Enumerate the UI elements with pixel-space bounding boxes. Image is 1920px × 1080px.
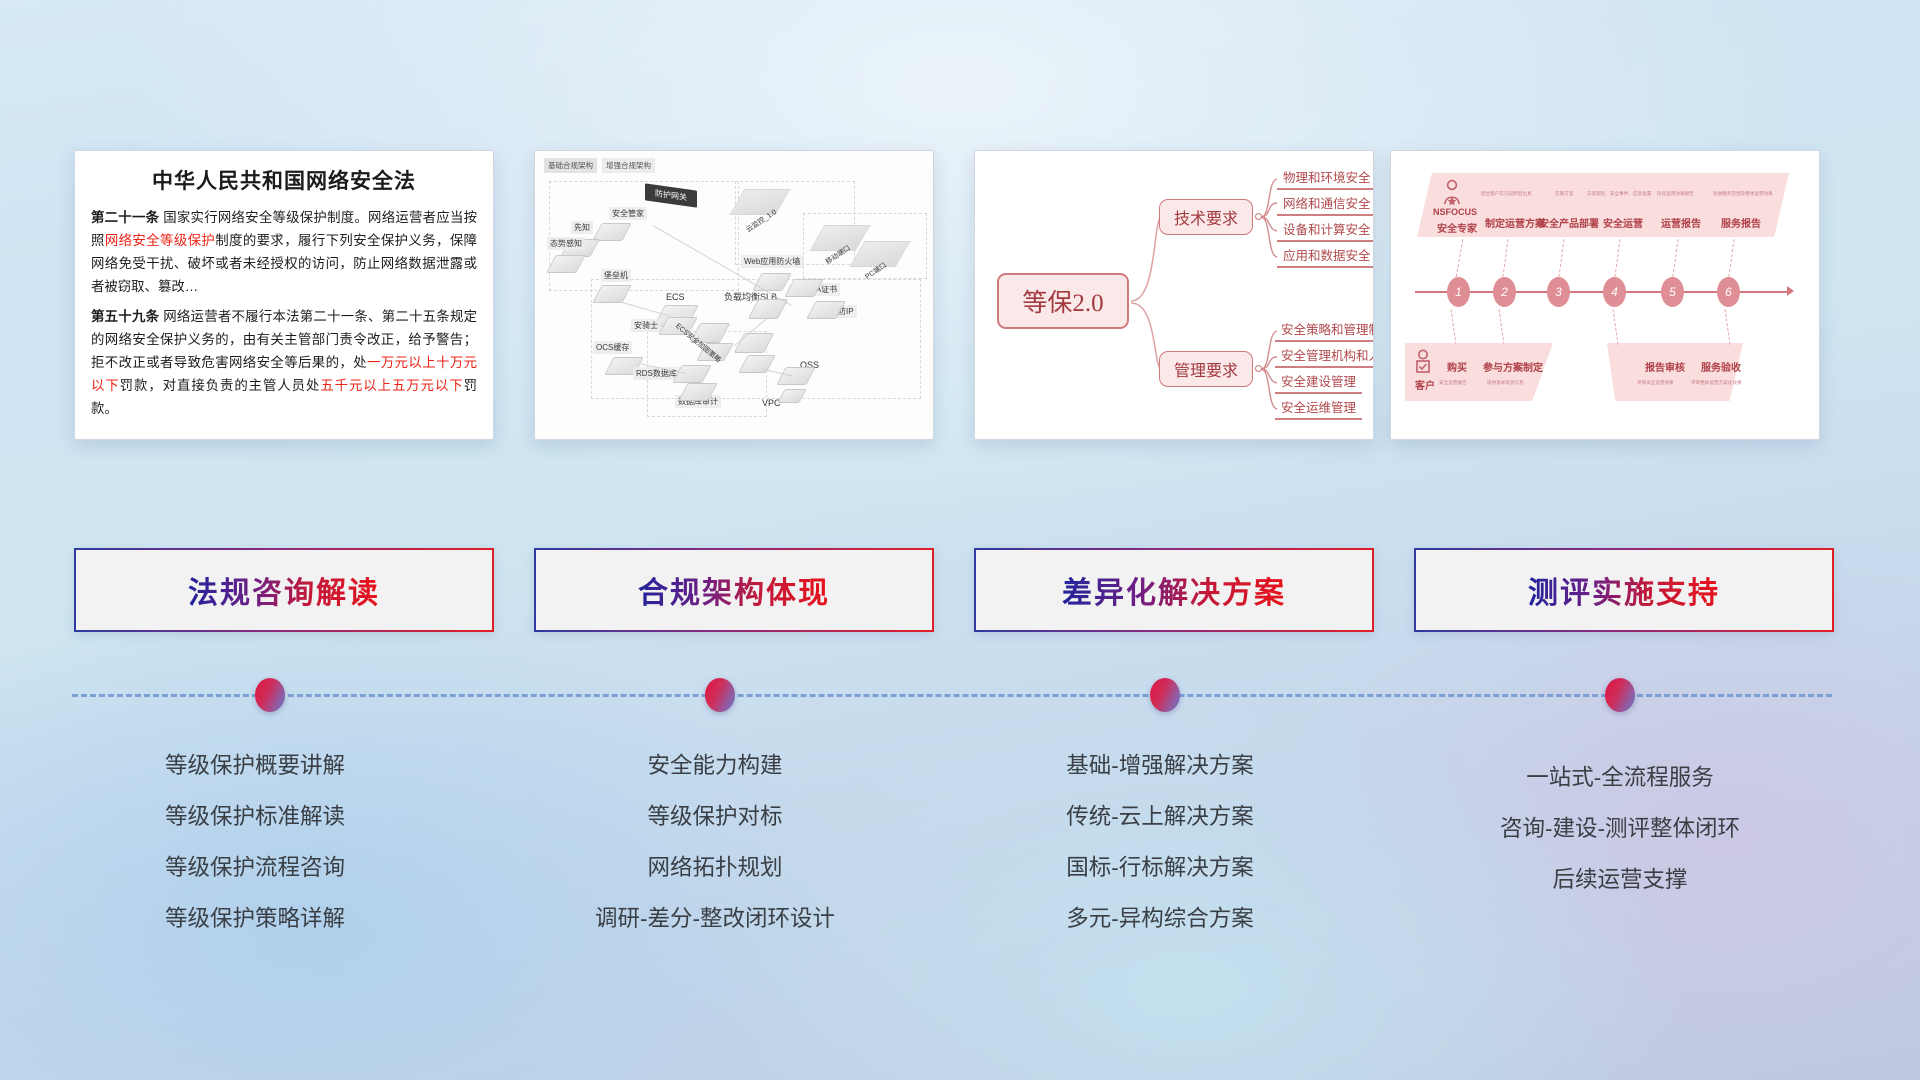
list-item: 等级保护对标 bbox=[520, 791, 910, 842]
process-step-5[interactable]: 5 bbox=[1661, 277, 1684, 307]
process-tick-2 bbox=[1502, 239, 1508, 277]
law-paragraph-21: 第二十一条 国家实行网络安全等级保护制度。网络运营者应当按照网络安全等级保护制度… bbox=[91, 206, 477, 298]
process-sub-plan: 结合客户实况说明后出具 bbox=[1481, 191, 1532, 197]
mindmap-collapse-icon-technical[interactable] bbox=[1255, 213, 1262, 220]
process-sub-acceptance: 评审整体运营方案化效果 bbox=[1691, 380, 1742, 386]
process-tick-8 bbox=[1498, 309, 1504, 345]
mindmap-root-node[interactable]: 等保2.0 bbox=[997, 273, 1129, 329]
section-list-2: 安全能力构建 等级保护对标 网络拓扑规划 调研-差分-整改闭环设计 bbox=[520, 740, 910, 944]
law-highlight-59-b: 五千元以上五万元以下 bbox=[320, 378, 463, 393]
process-sub-deploy: 实施方案 bbox=[1555, 191, 1573, 197]
mindmap-leaf-org-personnel: 安全管理机构和人员 bbox=[1275, 345, 1374, 368]
cloud-architecture-card: 基础合规架构 增强合规架构 防护网关 安全管家 先知 态势感知 堡垒机 ECS bbox=[534, 150, 934, 440]
mindmap-leaf-app-data: 应用和数据安全 bbox=[1277, 245, 1374, 268]
process-title-review: 报告审核 bbox=[1645, 359, 1685, 374]
law-article-number-59: 第五十九条 bbox=[91, 309, 159, 324]
process-sub-operate: 日常巡检、安全事件、应急处置 bbox=[1587, 191, 1651, 197]
process-step-2[interactable]: 2 bbox=[1493, 277, 1516, 307]
mindmap-leaf-construction-mgmt: 安全建设管理 bbox=[1275, 371, 1362, 394]
list-item: 基础-增强解决方案 bbox=[965, 740, 1355, 791]
process-title-deploy: 安全产品部署 bbox=[1539, 215, 1599, 230]
timeline-dot-2[interactable] bbox=[705, 678, 735, 712]
process-timeline-card: NSFOCUS 安全专家 结合客户实况说明后出具 制定运营方案 实施方案 安全产… bbox=[1390, 150, 1820, 440]
mindmap-leaf-device-compute: 设备和计算安全 bbox=[1277, 219, 1374, 242]
process-tick-7 bbox=[1450, 309, 1456, 345]
section-list-4: 一站式-全流程服务 咨询-建设-测评整体闭环 后续运营支撑 bbox=[1400, 752, 1840, 905]
section-title-box-1[interactable]: 法规咨询解读 bbox=[74, 548, 494, 632]
timeline-dot-1[interactable] bbox=[255, 678, 285, 712]
law-title: 中华人民共和国网络安全法 bbox=[91, 165, 477, 195]
section-title-2: 合规架构体现 bbox=[638, 568, 830, 612]
list-item: 多元-异构综合方案 bbox=[965, 893, 1355, 944]
process-tick-4 bbox=[1614, 239, 1620, 277]
expert-role-line2: 安全专家 bbox=[1437, 220, 1477, 235]
mindmap-leaf-network-comm: 网络和通信安全 bbox=[1277, 193, 1374, 216]
architecture-diagram: 基础合规架构 增强合规架构 防护网关 安全管家 先知 态势感知 堡垒机 ECS bbox=[535, 151, 933, 439]
mindmap-branch-management[interactable]: 管理要求 bbox=[1159, 351, 1253, 387]
architecture-tabs: 基础合规架构 增强合规架构 bbox=[544, 158, 655, 173]
node-label-ecs: ECS bbox=[663, 291, 688, 303]
timeline-dot-4[interactable] bbox=[1605, 678, 1635, 712]
timeline-dashed-line bbox=[72, 694, 1832, 697]
process-step-3[interactable]: 3 bbox=[1547, 277, 1570, 307]
process-title-acceptance: 服务验收 bbox=[1701, 359, 1741, 374]
zone-management bbox=[549, 181, 739, 291]
section-title-1: 法规咨询解读 bbox=[188, 568, 380, 612]
list-item: 一站式-全流程服务 bbox=[1400, 752, 1840, 803]
process-step-4[interactable]: 4 bbox=[1603, 277, 1626, 307]
section-title-box-4[interactable]: 测评实施支持 bbox=[1414, 548, 1834, 632]
tab-basic-architecture[interactable]: 基础合规架构 bbox=[544, 158, 597, 173]
section-title-4: 测评实施支持 bbox=[1528, 568, 1720, 612]
process-title-ops-report: 运营报告 bbox=[1661, 215, 1701, 230]
process-step-1[interactable]: 1 bbox=[1447, 277, 1470, 307]
process-sub-purchase: 安全运营报告 bbox=[1439, 380, 1467, 386]
list-item: 国标-行标解决方案 bbox=[965, 842, 1355, 893]
node-label-anqishi: 安骑士 bbox=[631, 319, 661, 332]
tab-enhanced-architecture[interactable]: 增强合规架构 bbox=[602, 158, 655, 173]
node-label-rds: RDS数据库 bbox=[633, 367, 680, 380]
process-step-6[interactable]: 6 bbox=[1717, 277, 1740, 307]
law-text-59-middle: 罚款，对直接负责的主管人员处 bbox=[120, 378, 321, 393]
mindmap-branch-technical[interactable]: 技术要求 bbox=[1159, 199, 1253, 235]
list-item: 网络拓扑规划 bbox=[520, 842, 910, 893]
list-item: 安全能力构建 bbox=[520, 740, 910, 791]
process-title-participate: 参与方案制定 bbox=[1483, 359, 1543, 374]
law-paragraph-59: 第五十九条 网络运营者不履行本法第二十一条、第二十五条规定的网络安全保护义务的，… bbox=[91, 305, 477, 420]
node-label-bastion: 堡垒机 bbox=[601, 269, 631, 282]
node-label-security-butler: 安全管家 bbox=[609, 207, 647, 220]
process-tick-1 bbox=[1456, 239, 1464, 277]
mindmap-leaf-ops-mgmt: 安全运维管理 bbox=[1275, 397, 1362, 420]
process-axis-arrow-icon bbox=[1787, 286, 1794, 296]
process-sub-ops-report: 阶段运营效果报告 bbox=[1657, 191, 1694, 197]
law-text-card: 中华人民共和国网络安全法 第二十一条 国家实行网络安全等级保护制度。网络运营者应… bbox=[74, 150, 494, 440]
node-label-ocs-cache: OCS缓存 bbox=[593, 341, 632, 354]
section-list-1: 等级保护概要讲解 等级保护标准解读 等级保护流程咨询 等级保护策略详解 bbox=[60, 740, 450, 944]
node-label-xianzhi: 先知 bbox=[571, 221, 593, 234]
list-item: 等级保护标准解读 bbox=[60, 791, 450, 842]
node-label-situation-awareness: 态势感知 bbox=[547, 237, 585, 250]
section-title-3: 差异化解决方案 bbox=[1062, 568, 1286, 612]
list-item: 后续运营支撑 bbox=[1400, 854, 1840, 905]
process-title-plan: 制定运营方案 bbox=[1485, 215, 1545, 230]
list-item: 等级保护策略详解 bbox=[60, 893, 450, 944]
section-list-3: 基础-增强解决方案 传统-云上解决方案 国标-行标解决方案 多元-异构综合方案 bbox=[965, 740, 1355, 944]
list-item: 咨询-建设-测评整体闭环 bbox=[1400, 803, 1840, 854]
section-title-box-2[interactable]: 合规架构体现 bbox=[534, 548, 934, 632]
expert-role-line1: NSFOCUS bbox=[1433, 207, 1477, 217]
list-item: 等级保护概要讲解 bbox=[60, 740, 450, 791]
process-sub-participate: 提供基本现状信息 bbox=[1487, 380, 1524, 386]
process-tick-10 bbox=[1724, 309, 1730, 345]
list-item: 传统-云上解决方案 bbox=[965, 791, 1355, 842]
law-body: 中华人民共和国网络安全法 第二十一条 国家实行网络安全等级保护制度。网络运营者应… bbox=[75, 151, 493, 430]
process-sub-svc-report: 验收服务范围及整体运营效果 bbox=[1713, 191, 1773, 197]
process-title-purchase: 购买 bbox=[1447, 359, 1467, 374]
section-title-box-3[interactable]: 差异化解决方案 bbox=[974, 548, 1374, 632]
mindmap-collapse-icon-management[interactable] bbox=[1255, 365, 1262, 372]
process-tick-3 bbox=[1558, 239, 1564, 277]
process-sub-review: 评审安全运营效果 bbox=[1637, 380, 1674, 386]
process-tick-9 bbox=[1612, 309, 1618, 345]
law-article-number-21: 第二十一条 bbox=[91, 210, 159, 225]
process-tick-6 bbox=[1728, 239, 1734, 277]
mindmap-diagram: 等保2.0 技术要求 管理要求 物理和环境安全 网络和通信安全 设备和计算安全 … bbox=[975, 151, 1373, 439]
node-label-waf: Web应用防火墙 bbox=[741, 255, 803, 268]
timeline-dot-3[interactable] bbox=[1150, 678, 1180, 712]
list-item: 调研-差分-整改闭环设计 bbox=[520, 893, 910, 944]
expert-person-icon bbox=[1441, 179, 1463, 205]
law-highlight-21: 网络安全等级保护 bbox=[105, 233, 215, 248]
process-title-svc-report: 服务报告 bbox=[1721, 215, 1761, 230]
customer-person-icon bbox=[1413, 349, 1433, 375]
process-title-operate: 安全运营 bbox=[1603, 215, 1643, 230]
customer-role-label: 客户 bbox=[1415, 377, 1435, 392]
process-diagram: NSFOCUS 安全专家 结合客户实况说明后出具 制定运营方案 实施方案 安全产… bbox=[1391, 151, 1819, 439]
mindmap-card: 等保2.0 技术要求 管理要求 物理和环境安全 网络和通信安全 设备和计算安全 … bbox=[974, 150, 1374, 440]
list-item: 等级保护流程咨询 bbox=[60, 842, 450, 893]
mindmap-leaf-policy-system: 安全策略和管理制度 bbox=[1275, 319, 1374, 342]
slide-canvas: 中华人民共和国网络安全法 第二十一条 国家实行网络安全等级保护制度。网络运营者应… bbox=[0, 0, 1920, 1080]
process-tick-5 bbox=[1672, 239, 1678, 277]
mindmap-leaf-physical-env: 物理和环境安全 bbox=[1277, 167, 1374, 190]
